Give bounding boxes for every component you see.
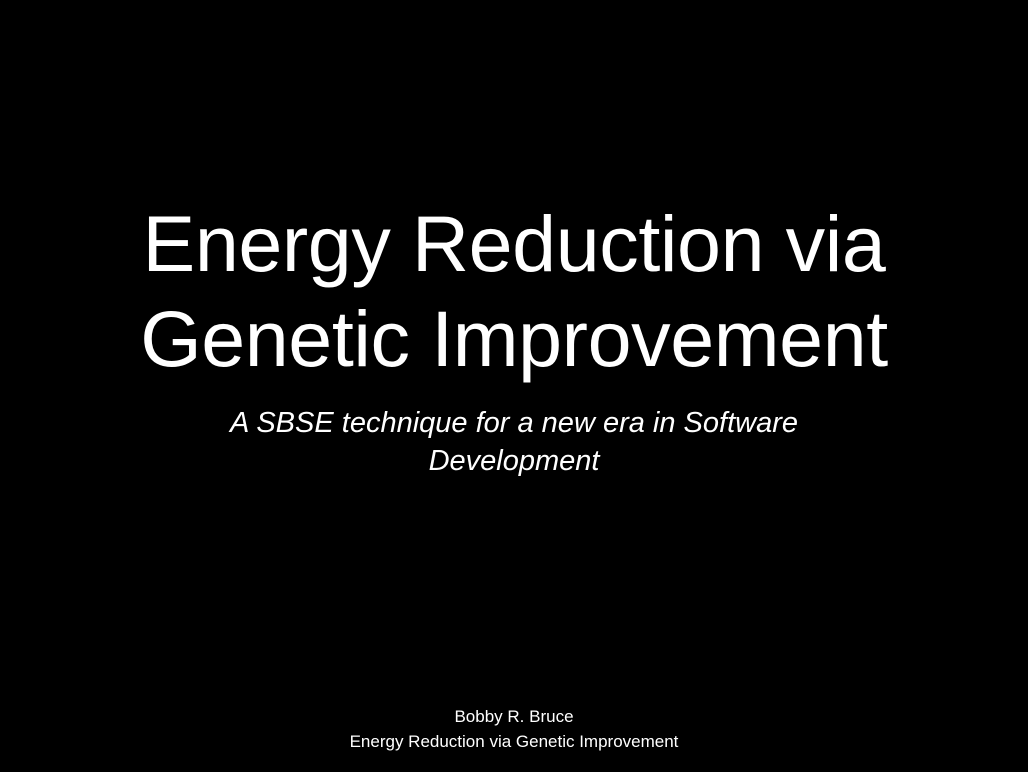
subtitle-text: A SBSE technique for a new era in Softwa… (194, 404, 834, 480)
title-line-1: Energy Reduction via (24, 196, 1004, 291)
footer-presenter-name: Bobby R. Bruce (24, 704, 1004, 729)
slide-title: Energy Reduction via Genetic Improvement (0, 196, 1028, 386)
footer-deck-title: Energy Reduction via Genetic Improvement (24, 729, 1004, 754)
presentation-slide: Energy Reduction via Genetic Improvement… (0, 0, 1028, 772)
slide-subtitle: A SBSE technique for a new era in Softwa… (0, 404, 1028, 480)
slide-footer: Bobby R. Bruce Energy Reduction via Gene… (0, 704, 1028, 754)
title-line-2: Genetic Improvement (24, 291, 1004, 386)
